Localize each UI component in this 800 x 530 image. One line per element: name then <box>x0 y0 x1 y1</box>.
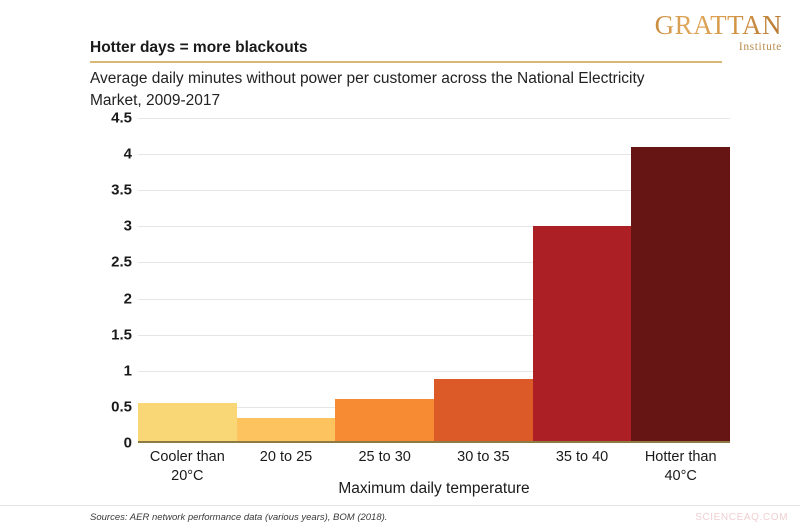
watermark: SCIENCEAQ.COM <box>695 512 788 523</box>
bar[interactable] <box>434 379 533 441</box>
y-axis-tick-label: 2.5 <box>90 254 132 271</box>
bar[interactable] <box>631 147 730 441</box>
y-axis-tick-label: 1.5 <box>90 326 132 343</box>
bar[interactable] <box>533 226 632 441</box>
x-axis-line <box>138 441 730 443</box>
chart-subtitle: Average daily minutes without power per … <box>90 68 690 112</box>
y-axis-tick-label: 3 <box>90 218 132 235</box>
bar-column[interactable] <box>434 118 533 441</box>
page-title: Hotter days = more blackouts <box>90 39 308 57</box>
bar[interactable] <box>237 418 336 441</box>
bar-column[interactable] <box>335 118 434 441</box>
brand-name: GRATTAN <box>655 12 782 39</box>
y-axis-tick-label: 4 <box>90 146 132 163</box>
brand-subtitle: Institute <box>655 42 782 54</box>
bar-column[interactable] <box>631 118 730 441</box>
bar-column[interactable] <box>237 118 336 441</box>
slide: GRATTAN Institute Hotter days = more bla… <box>0 0 800 530</box>
y-axis-tick-label: 4.5 <box>90 110 132 127</box>
y-axis-tick-label: 2 <box>90 290 132 307</box>
y-axis-tick-label: 1 <box>90 362 132 379</box>
y-axis: 00.511.522.533.544.5 <box>90 118 132 443</box>
grattan-logo: GRATTAN Institute <box>655 12 782 54</box>
footer-divider <box>0 505 800 506</box>
bar[interactable] <box>335 399 434 441</box>
x-axis-title: Maximum daily temperature <box>138 480 730 498</box>
sources-note: Sources: AER network performance data (v… <box>90 512 387 523</box>
y-axis-tick-label: 0.5 <box>90 398 132 415</box>
bar[interactable] <box>138 403 237 441</box>
y-axis-tick-label: 3.5 <box>90 182 132 199</box>
title-divider <box>90 61 722 63</box>
plot-area <box>138 118 730 443</box>
bar-chart: 00.511.522.533.544.5 <box>90 118 730 443</box>
bar-column[interactable] <box>533 118 632 441</box>
bar-series <box>138 118 730 441</box>
bar-column[interactable] <box>138 118 237 441</box>
y-axis-tick-label: 0 <box>90 435 132 452</box>
